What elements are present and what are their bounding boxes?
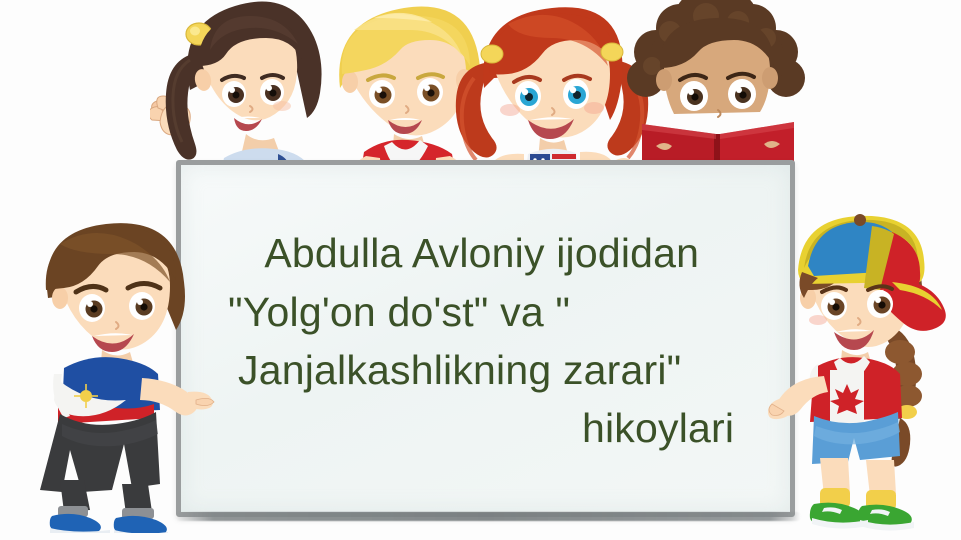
hair-tie-left [481, 45, 503, 63]
girl-braid-multicolor-cap [768, 212, 958, 534]
slide-canvas: Abdulla Avloniy ijodidan "Yolg'on do'st"… [0, 0, 961, 540]
whiteboard-shadow [176, 512, 801, 521]
boy-pointing-philippines-shirt [30, 218, 215, 533]
green-sneakers [810, 503, 914, 531]
whiteboard [176, 160, 795, 517]
